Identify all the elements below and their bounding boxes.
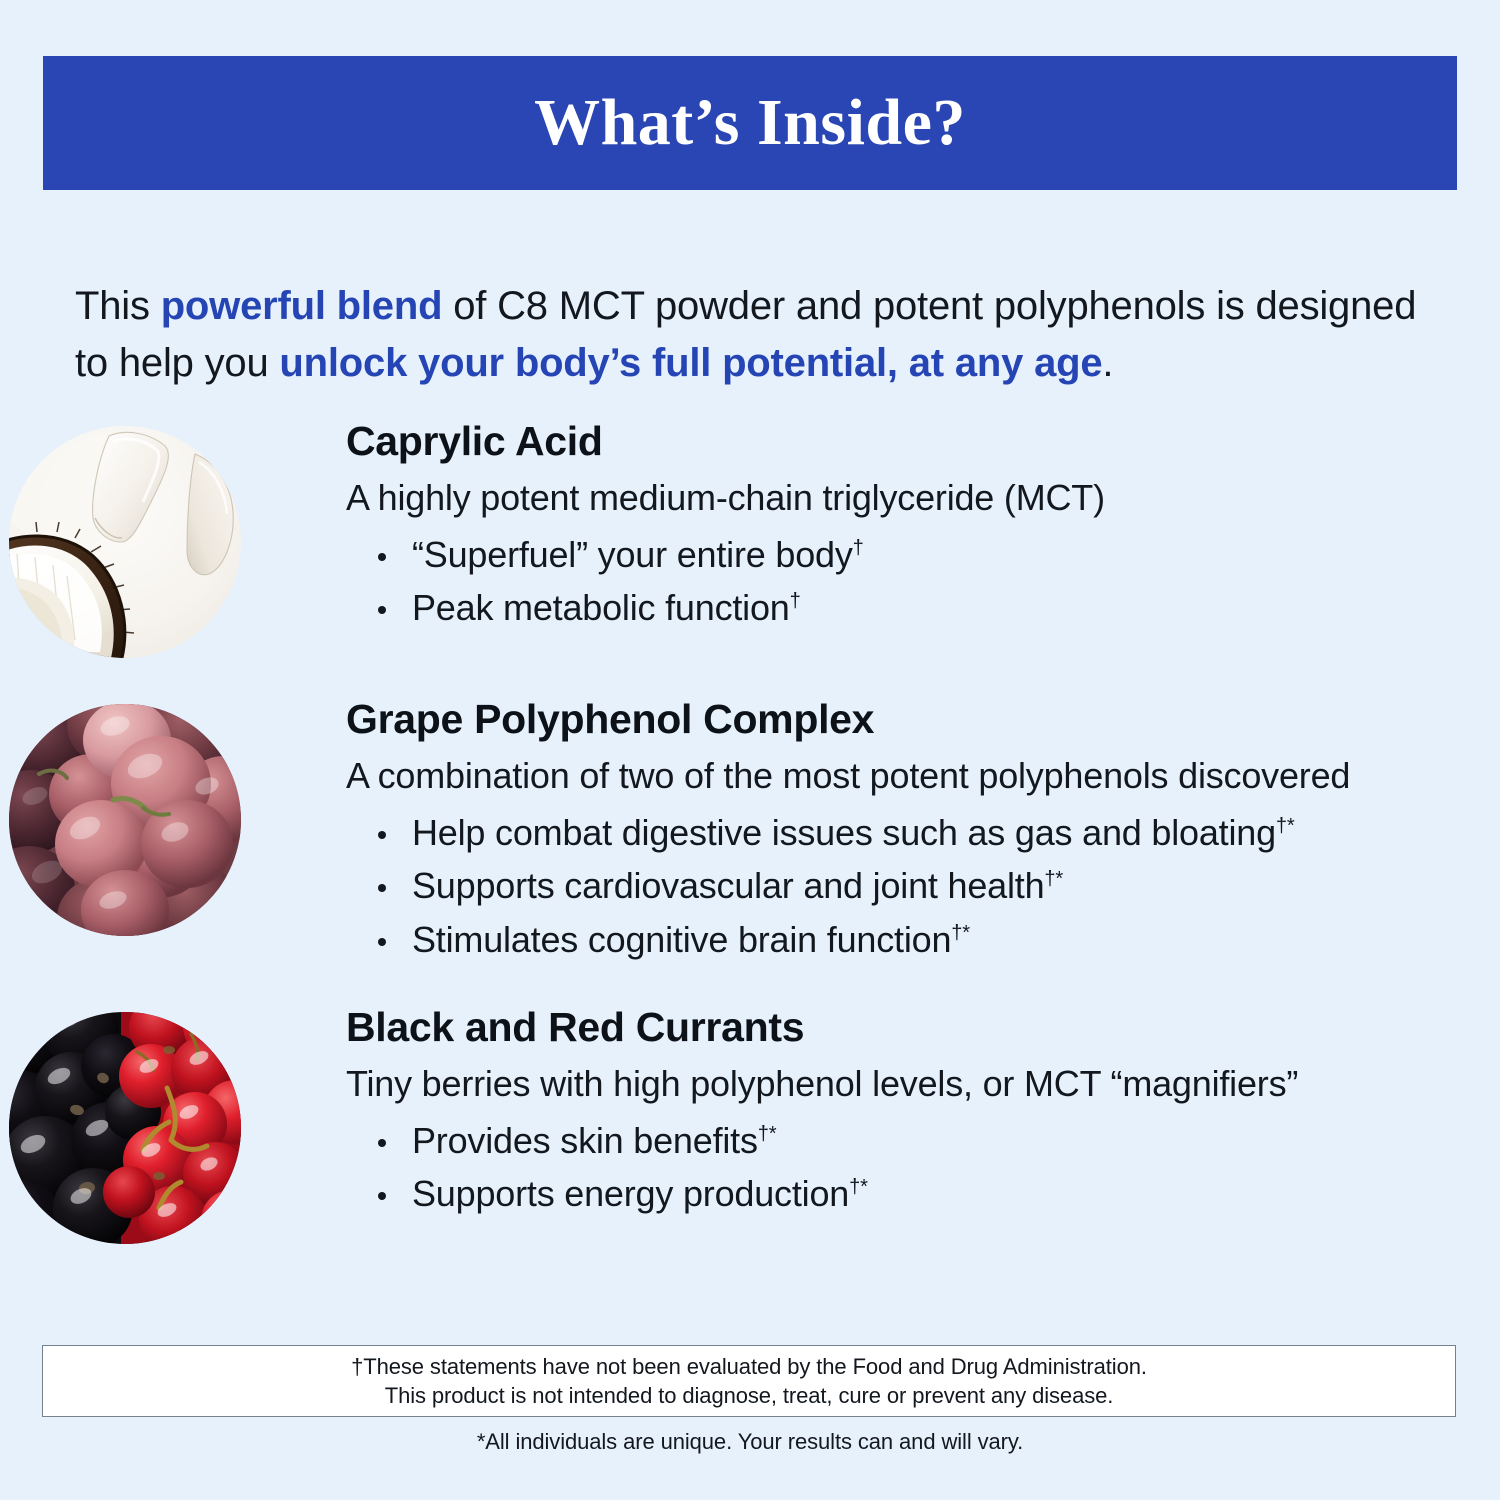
ingredient-thumbnail-wrap: [0, 1004, 250, 1244]
footnote-marker: †*: [1044, 868, 1063, 890]
intro-text-part-1: This: [75, 284, 161, 328]
benefit-text: “Superfuel” your entire body: [412, 534, 853, 575]
ingredient-benefit-list: Help combat digestive issues such as gas…: [346, 806, 1460, 966]
ingredient-list: Caprylic Acid A highly potent medium-cha…: [0, 418, 1500, 1244]
benefit-text: Supports energy production: [412, 1173, 849, 1214]
benefit-item: Supports cardiovascular and joint health…: [374, 859, 1460, 912]
grapes-photo: [9, 704, 241, 936]
intro-text-part-3: .: [1102, 341, 1113, 385]
benefit-item: Peak metabolic function†: [374, 581, 1460, 634]
ingredient-thumbnail-wrap: [0, 696, 250, 936]
footnote-marker: †: [853, 537, 864, 559]
benefit-text: Stimulates cognitive brain function: [412, 919, 951, 960]
ingredient-benefit-list: Provides skin benefits†* Supports energy…: [346, 1114, 1460, 1221]
ingredient-body: Caprylic Acid A highly potent medium-cha…: [250, 418, 1500, 635]
coconut-photo: [9, 426, 241, 658]
ingredient-title: Grape Polyphenol Complex: [346, 696, 1460, 743]
benefit-text: Peak metabolic function: [412, 587, 790, 628]
ingredient-row: Black and Red Currants Tiny berries with…: [0, 1004, 1500, 1244]
intro-highlight-full-potential: unlock your body’s full potential, at an…: [279, 341, 1102, 385]
benefit-text: Help combat digestive issues such as gas…: [412, 812, 1276, 853]
benefit-item: Provides skin benefits†*: [374, 1114, 1460, 1167]
fda-disclaimer-line-2: This product is not intended to diagnose…: [385, 1381, 1114, 1410]
ingredient-body: Grape Polyphenol Complex A combination o…: [250, 696, 1500, 966]
ingredient-subtitle: Tiny berries with high polyphenol levels…: [346, 1061, 1460, 1106]
ingredient-row: Grape Polyphenol Complex A combination o…: [0, 696, 1500, 966]
benefit-item: Help combat digestive issues such as gas…: [374, 806, 1460, 859]
currants-photo: [9, 1012, 241, 1244]
benefit-item: Stimulates cognitive brain function†*: [374, 913, 1460, 966]
ingredient-row: Caprylic Acid A highly potent medium-cha…: [0, 418, 1500, 658]
page-title: What’s Inside?: [534, 90, 966, 156]
fda-disclaimer-box: †These statements have not been evaluate…: [42, 1345, 1456, 1417]
footnote-marker: †: [790, 590, 801, 612]
footnote-marker: †*: [849, 1176, 868, 1198]
ingredient-subtitle: A combination of two of the most potent …: [346, 753, 1460, 798]
page-banner: What’s Inside?: [43, 56, 1457, 190]
intro-highlight-powerful-blend: powerful blend: [161, 284, 443, 328]
results-vary-footnote: *All individuals are unique. Your result…: [0, 1428, 1500, 1457]
fda-disclaimer-line-1: †These statements have not been evaluate…: [351, 1352, 1147, 1381]
benefit-text: Supports cardiovascular and joint health: [412, 865, 1044, 906]
ingredient-subtitle: A highly potent medium-chain triglycerid…: [346, 475, 1460, 520]
footnote-marker: †*: [758, 1123, 777, 1145]
footnote-marker: †*: [951, 922, 970, 944]
ingredient-title: Black and Red Currants: [346, 1004, 1460, 1051]
benefit-item: Supports energy production†*: [374, 1167, 1460, 1220]
ingredient-thumbnail-wrap: [0, 418, 250, 658]
benefit-item: “Superfuel” your entire body†: [374, 528, 1460, 581]
footnote-marker: †*: [1276, 815, 1295, 837]
ingredient-title: Caprylic Acid: [346, 418, 1460, 465]
ingredient-body: Black and Red Currants Tiny berries with…: [250, 1004, 1500, 1221]
intro-paragraph: This powerful blend of C8 MCT powder and…: [75, 278, 1430, 392]
ingredient-benefit-list: “Superfuel” your entire body† Peak metab…: [346, 528, 1460, 635]
benefit-text: Provides skin benefits: [412, 1120, 758, 1161]
